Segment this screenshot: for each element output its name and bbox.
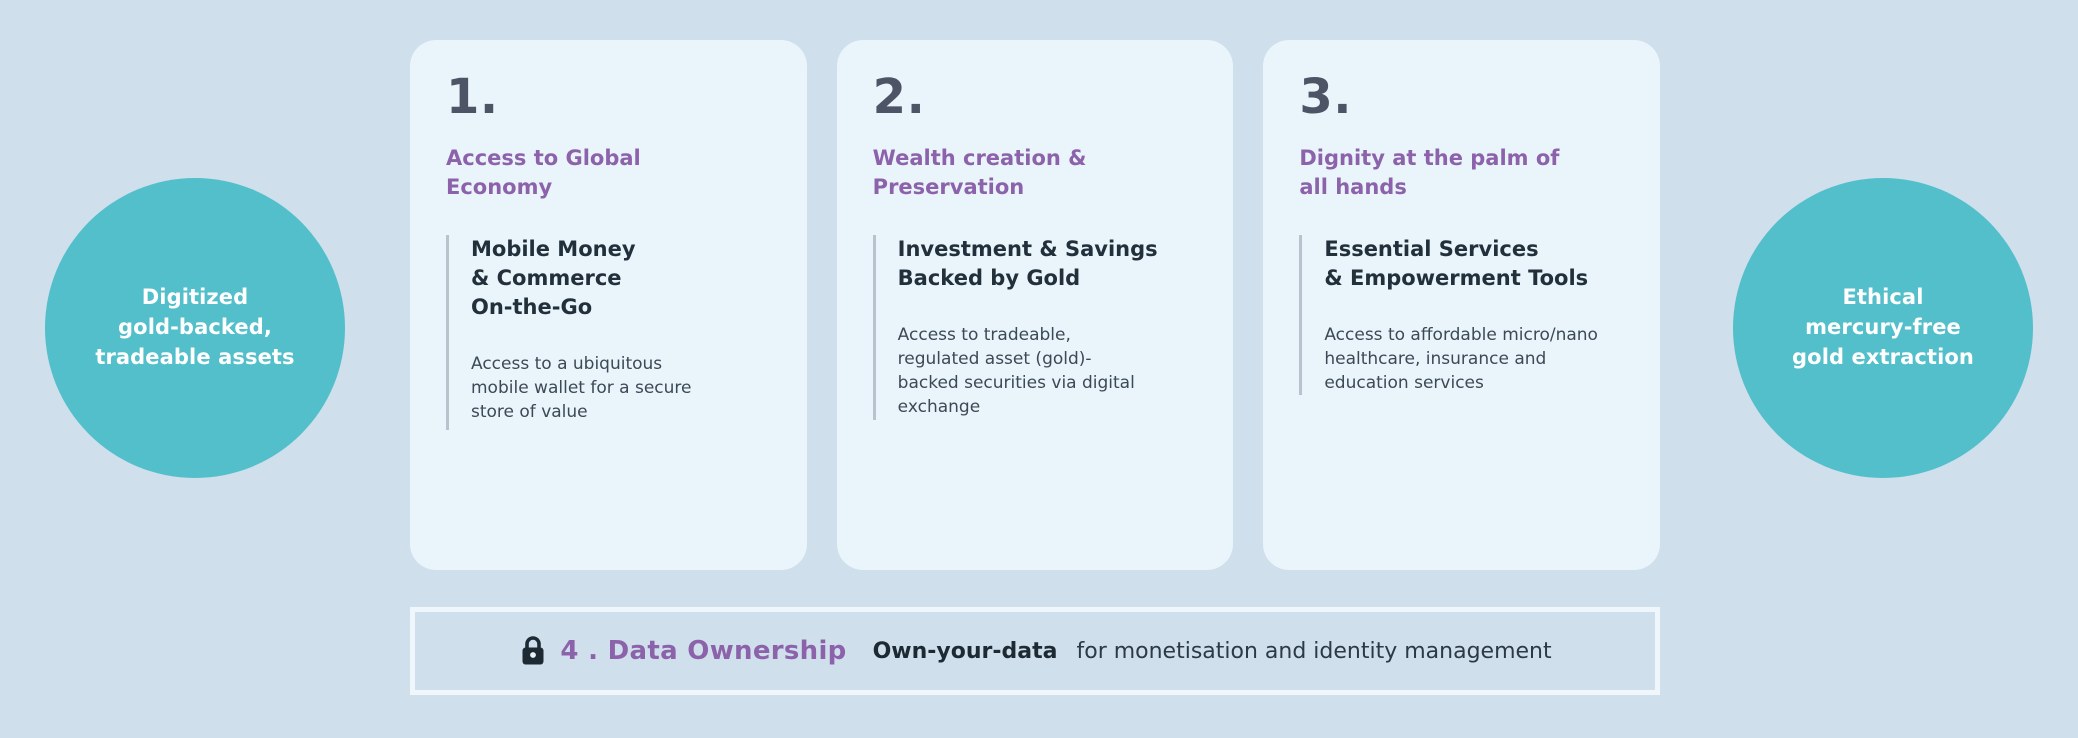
card-dignity-at-the-palm-of-all-hands[interactable]: 3. Dignity at the palm of all hands Esse… bbox=[1263, 40, 1660, 570]
right-circle-badge: Ethical mercury-free gold extraction bbox=[1733, 178, 2033, 478]
card-number: 2. bbox=[873, 72, 1198, 122]
banner-strong-text: Own-your-data bbox=[873, 639, 1058, 664]
card-subtitle: Wealth creation & Preservation bbox=[873, 144, 1198, 200]
card-body: Essential Services & Empowerment Tools A… bbox=[1299, 235, 1624, 396]
card-body-title: Essential Services & Empowerment Tools bbox=[1324, 235, 1624, 293]
card-number: 1. bbox=[446, 72, 771, 122]
card-wealth-creation-preservation[interactable]: 2. Wealth creation & Preservation Invest… bbox=[837, 40, 1234, 570]
card-number: 3. bbox=[1299, 72, 1624, 122]
left-circle-badge: Digitized gold-backed, tradeable assets bbox=[45, 178, 345, 478]
card-body-description: Access to tradeable, regulated asset (go… bbox=[898, 323, 1198, 420]
card-body: Investment & Savings Backed by Gold Acce… bbox=[873, 235, 1198, 420]
data-ownership-banner[interactable]: 4 . Data Ownership Own-your-data for mon… bbox=[410, 607, 1660, 695]
lock-icon bbox=[518, 634, 548, 668]
banner-rest-text: for monetisation and identity management bbox=[1076, 639, 1551, 664]
card-body-description: Access to affordable micro/nano healthca… bbox=[1324, 323, 1624, 396]
infographic-canvas: Digitized gold-backed, tradeable assets … bbox=[0, 0, 2078, 738]
banner-number-label: 4 . Data Ownership bbox=[560, 636, 846, 666]
card-access-to-global-economy[interactable]: 1. Access to Global Economy Mobile Money… bbox=[410, 40, 807, 570]
banner-content: 4 . Data Ownership Own-your-data for mon… bbox=[518, 634, 1551, 668]
card-body-description: Access to a ubiquitous mobile wallet for… bbox=[471, 352, 771, 425]
card-body-title: Mobile Money & Commerce On-the-Go bbox=[471, 235, 771, 322]
card-body: Mobile Money & Commerce On-the-Go Access… bbox=[446, 235, 771, 430]
cards-row: 1. Access to Global Economy Mobile Money… bbox=[410, 40, 1660, 570]
left-circle-label: Digitized gold-backed, tradeable assets bbox=[75, 283, 314, 372]
card-body-title: Investment & Savings Backed by Gold bbox=[898, 235, 1198, 293]
right-circle-label: Ethical mercury-free gold extraction bbox=[1772, 283, 1994, 372]
card-subtitle: Access to Global Economy bbox=[446, 144, 771, 200]
card-subtitle: Dignity at the palm of all hands bbox=[1299, 144, 1624, 200]
